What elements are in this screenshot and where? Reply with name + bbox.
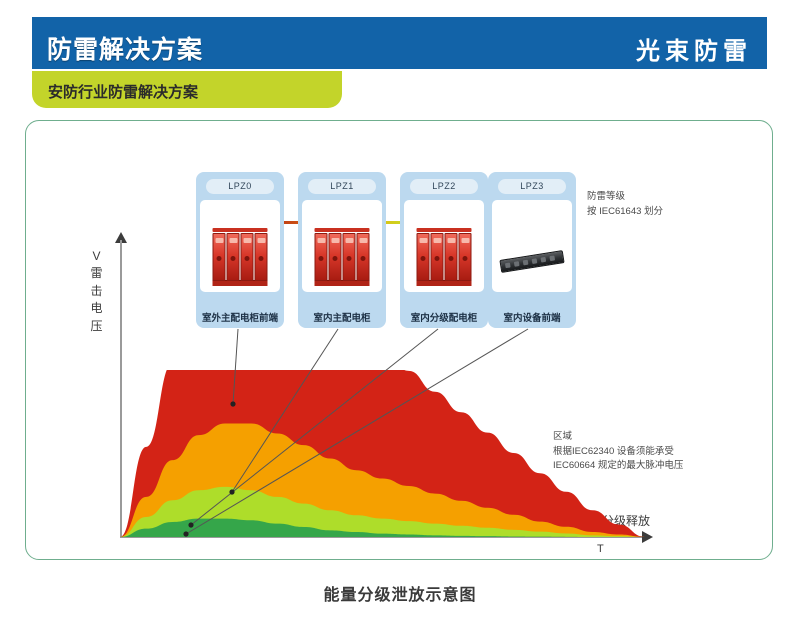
zone-device-area-lpz1 — [302, 200, 382, 292]
zone-footer-lpz0: 室外主配电柜前端 — [196, 310, 284, 324]
zone-chip-lpz0: LPZ0 — [206, 179, 274, 194]
zone-box-lpz2[interactable]: LPZ2 室内分级配电柜 — [400, 172, 488, 328]
subtitle-text: 安防行业防雷解决方案 — [48, 81, 198, 102]
spd-device-icon-lpz0 — [213, 228, 268, 286]
zone-box-lpz1[interactable]: LPZ1 室内主配电柜 — [298, 172, 386, 328]
pdu-strip-icon-lpz3 — [499, 250, 564, 273]
zone-footer-lpz3: 室内设备前端 — [488, 310, 576, 324]
page-title: 防雷解决方案 — [47, 30, 203, 66]
zone-box-lpz3[interactable]: LPZ3 室内设备前端 — [488, 172, 576, 328]
zone-chip-lpz3: LPZ3 — [498, 179, 566, 194]
zone-footer-lpz1: 室内主配电柜 — [298, 310, 386, 324]
zone-chip-lpz2: LPZ2 — [410, 179, 478, 194]
note-protection-level-body: 按 IEC61643 划分 — [587, 205, 663, 220]
poster-page: 防雷解决方案 光束防雷 安防行业防雷解决方案 Supply 6kV 4kV 2.… — [0, 0, 800, 623]
figure-caption: 能量分级泄放示意图 — [0, 581, 800, 605]
energy-release-chart — [120, 370, 645, 537]
zone-footer-lpz2: 室内分级配电柜 — [400, 310, 488, 324]
x-axis-time-label: T — [597, 543, 604, 555]
brand-logo-text: 光束防雷 — [636, 31, 752, 66]
spd-device-icon-lpz1 — [315, 228, 370, 286]
zone-device-area-lpz0 — [200, 200, 280, 292]
zone-box-lpz0[interactable]: LPZ0 室外主配电柜前端 — [196, 172, 284, 328]
note-protection-level: 防雷等级 按 IEC61643 划分 — [587, 190, 663, 219]
zone-chip-lpz1: LPZ1 — [308, 179, 376, 194]
note-protection-level-title: 防雷等级 — [587, 190, 663, 205]
spd-device-icon-lpz2 — [417, 228, 472, 286]
zone-device-area-lpz3 — [492, 200, 572, 292]
zone-device-area-lpz2 — [404, 200, 484, 292]
y-axis-label: V 雷击电压 — [88, 248, 106, 335]
chart-svg — [120, 370, 645, 537]
